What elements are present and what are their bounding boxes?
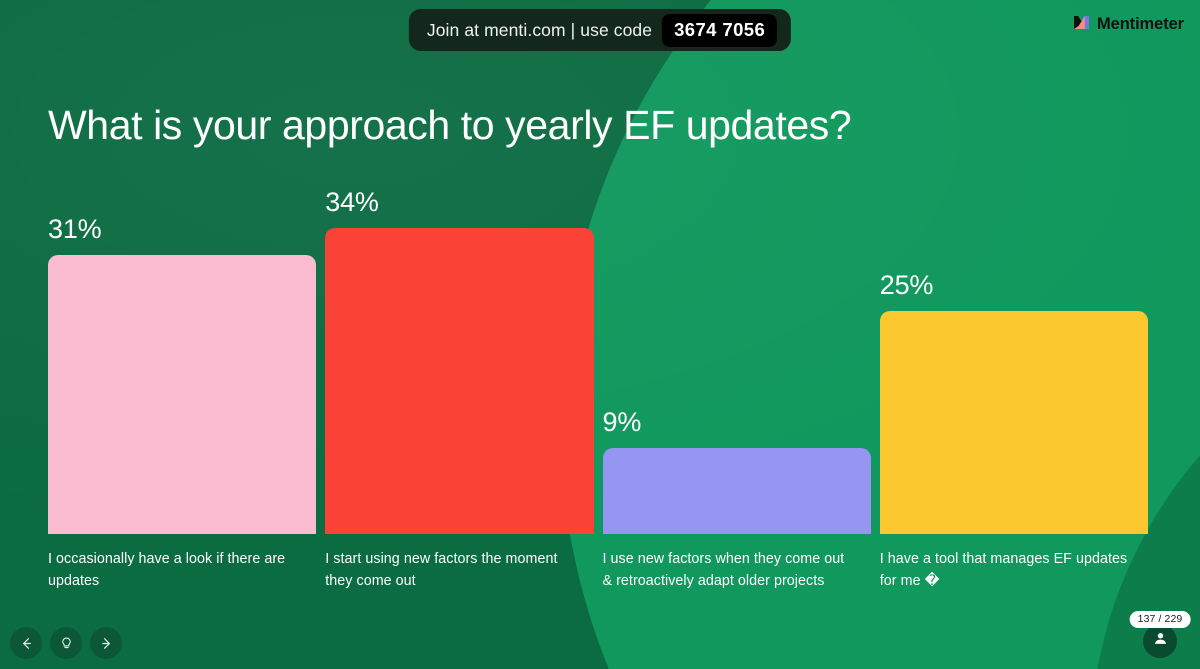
- participant-count-badge: 137 / 229: [1130, 611, 1191, 628]
- bar-rect: [48, 255, 316, 534]
- join-instructions-pill: Join at menti.com | use code 3674 7056: [409, 9, 791, 51]
- person-icon: [1152, 630, 1169, 652]
- bar-value-label: 34%: [325, 189, 593, 216]
- brand-name: Mentimeter: [1097, 15, 1184, 34]
- bar-column: 25%: [880, 150, 1148, 534]
- bar-rect: [603, 448, 871, 534]
- question-title: What is your approach to yearly EF updat…: [48, 101, 1048, 150]
- mentimeter-logo-icon: [1073, 13, 1090, 35]
- bar-rect: [880, 311, 1148, 534]
- presentation-slide: Join at menti.com | use code 3674 7056 M…: [0, 0, 1200, 669]
- bar-category-labels: I occasionally have a look if there are …: [48, 548, 1148, 592]
- bar-column: 31%: [48, 150, 316, 534]
- bar-column: 9%: [603, 150, 871, 534]
- bar-value-label: 25%: [880, 272, 1148, 299]
- participants-button[interactable]: [1143, 624, 1177, 658]
- bar-category-label: I occasionally have a look if there are …: [48, 548, 316, 592]
- bar-category-label: I have a tool that manages EF updates fo…: [880, 548, 1148, 592]
- bar-chart: 31% 34% 9% 25%: [48, 150, 1148, 534]
- hint-lightbulb-button[interactable]: [50, 627, 82, 659]
- bar-category-label: I use new factors when they come out & r…: [603, 548, 871, 592]
- bar-value-label: 9%: [603, 409, 871, 436]
- arrow-right-icon: [99, 636, 114, 651]
- bar-value-label: 31%: [48, 216, 316, 243]
- slide-navigation: [10, 627, 122, 659]
- next-slide-button[interactable]: [90, 627, 122, 659]
- bar-column: 34%: [325, 150, 593, 534]
- mentimeter-brand: Mentimeter: [1073, 13, 1184, 35]
- previous-slide-button[interactable]: [10, 627, 42, 659]
- lightbulb-icon: [59, 636, 74, 651]
- arrow-left-icon: [19, 636, 34, 651]
- bar-category-label: I start using new factors the moment the…: [325, 548, 593, 592]
- bar-rect: [325, 228, 593, 534]
- participants-indicator: 137 / 229: [1132, 605, 1188, 661]
- join-instructions-text: Join at menti.com | use code: [427, 20, 652, 41]
- join-code: 3674 7056: [662, 14, 777, 47]
